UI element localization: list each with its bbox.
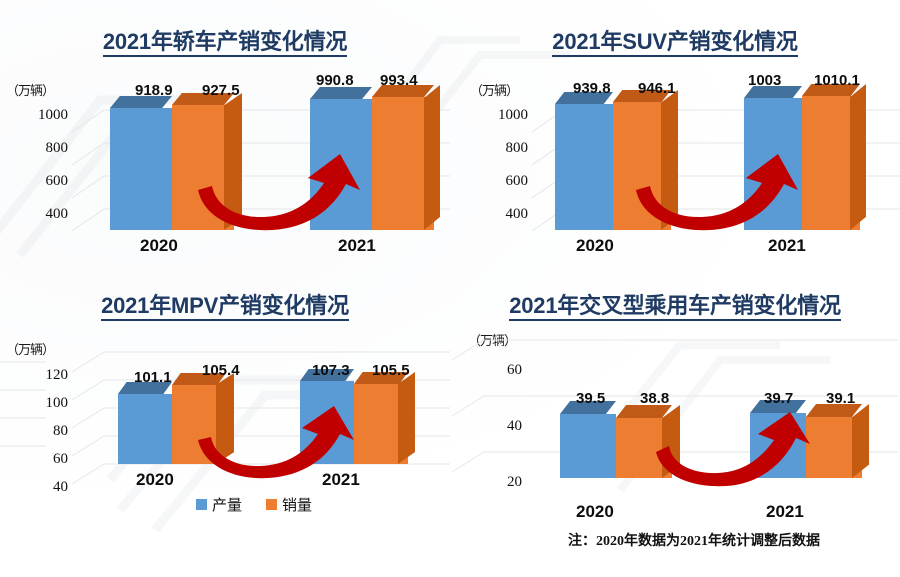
data-label: 39.7 xyxy=(764,390,793,407)
bar-2021-production-suv xyxy=(744,98,802,230)
data-label: 946.1 xyxy=(638,80,676,97)
chart-title-sedan: 2021年轿车产销变化情况 xyxy=(0,24,450,56)
bar-2020-production-suv xyxy=(555,104,613,230)
bar-2021-sales-mpv xyxy=(354,384,408,464)
x-axis-label: 2021 xyxy=(768,236,806,256)
bar-2021-sales-suv xyxy=(802,96,860,230)
legend-label: 产量 xyxy=(212,494,242,515)
y-tick-label: 400 xyxy=(0,206,68,223)
x-axis-label: 2020 xyxy=(136,470,174,490)
chart-panel-suv: 2021年SUV产销变化情况 （万辆） 1000 800 600 400 xyxy=(450,0,900,272)
bar-2020-sales-suv xyxy=(613,102,671,230)
chart-title-mpv: 2021年MPV产销变化情况 xyxy=(0,288,450,320)
x-axis-label: 2020 xyxy=(576,502,614,522)
bar-2020-production-sedan xyxy=(110,108,172,230)
data-label: 1010.1 xyxy=(814,72,860,89)
x-axis-label: 2020 xyxy=(576,236,614,256)
y-tick-label: 1000 xyxy=(450,107,528,124)
x-axis-label: 2021 xyxy=(322,470,360,490)
y-tick-label: 60 xyxy=(450,362,522,379)
data-label: 38.8 xyxy=(640,390,669,407)
y-axis-unit-mpv: （万辆） xyxy=(6,339,54,358)
chart-panel-crossover: 2021年交叉型乘用车产销变化情况 （万辆） 60 40 20 xyxy=(450,272,900,577)
y-tick-label: 100 xyxy=(0,395,68,412)
y-tick-label: 20 xyxy=(450,474,522,491)
data-label: 107.3 xyxy=(312,362,350,379)
y-tick-label: 600 xyxy=(450,173,528,190)
x-axis-label: 2021 xyxy=(338,236,376,256)
y-tick-label: 40 xyxy=(0,479,68,496)
data-label: 105.4 xyxy=(202,362,240,379)
bar-2021-production-sedan xyxy=(310,99,372,230)
chart-panel-sedan: 2021年轿车产销变化情况 （万辆） 1000 800 600 400 xyxy=(0,0,450,272)
data-label: 39.5 xyxy=(576,390,605,407)
data-label: 101.1 xyxy=(134,369,172,386)
bar-2020-sales-sedan xyxy=(172,105,234,230)
x-axis-label: 2021 xyxy=(766,502,804,522)
data-label: 990.8 xyxy=(316,72,354,89)
y-tick-label: 800 xyxy=(0,140,68,157)
bar-2021-production-mpv xyxy=(300,381,354,464)
y-axis-unit-sedan: （万辆） xyxy=(6,80,54,99)
bar-2020-production-crossover xyxy=(560,414,616,478)
y-tick-label: 40 xyxy=(450,418,522,435)
data-label: 105.5 xyxy=(372,362,410,379)
x-axis-label: 2020 xyxy=(140,236,178,256)
bar-2020-sales-crossover xyxy=(616,418,672,478)
legend-item-sales: 销量 xyxy=(266,494,312,515)
data-label: 927.5 xyxy=(202,82,240,99)
data-label: 993.4 xyxy=(380,72,418,89)
y-axis-unit-crossover: （万辆） xyxy=(468,330,516,349)
bar-2020-sales-mpv xyxy=(172,385,226,464)
chart-title-crossover: 2021年交叉型乘用车产销变化情况 xyxy=(450,288,900,320)
y-tick-label: 400 xyxy=(450,206,528,223)
bar-2021-sales-sedan xyxy=(372,97,434,230)
bar-2021-production-crossover xyxy=(750,413,806,478)
chart-title-suv: 2021年SUV产销变化情况 xyxy=(450,24,900,56)
y-tick-label: 80 xyxy=(0,423,68,440)
blue-square-icon xyxy=(196,499,207,510)
bar-2021-sales-crossover xyxy=(806,417,862,478)
data-label: 1003 xyxy=(748,72,781,89)
chart-footnote: 注：2020年数据为2021年统计调整后数据 xyxy=(568,530,820,550)
y-tick-label: 1000 xyxy=(0,107,68,124)
data-label: 939.8 xyxy=(573,80,611,97)
charts-grid: 2021年轿车产销变化情况 （万辆） 1000 800 600 400 xyxy=(0,0,900,577)
y-axis-unit-suv: （万辆） xyxy=(470,80,518,99)
y-tick-label: 600 xyxy=(0,173,68,190)
bar-2020-production-mpv xyxy=(118,394,172,464)
y-tick-label: 800 xyxy=(450,140,528,157)
y-tick-label: 60 xyxy=(0,451,68,468)
chart-legend-mpv: 产量 销量 xyxy=(196,494,312,515)
infographic-page: 2021年轿车产销变化情况 （万辆） 1000 800 600 400 xyxy=(0,0,900,577)
orange-square-icon xyxy=(266,499,277,510)
chart-panel-mpv: 2021年MPV产销变化情况 （万辆） 120 100 80 60 40 xyxy=(0,272,450,577)
data-label: 39.1 xyxy=(826,390,855,407)
legend-item-production: 产量 xyxy=(196,494,242,515)
legend-label: 销量 xyxy=(282,494,312,515)
data-label: 918.9 xyxy=(135,82,173,99)
y-tick-label: 120 xyxy=(0,367,68,384)
